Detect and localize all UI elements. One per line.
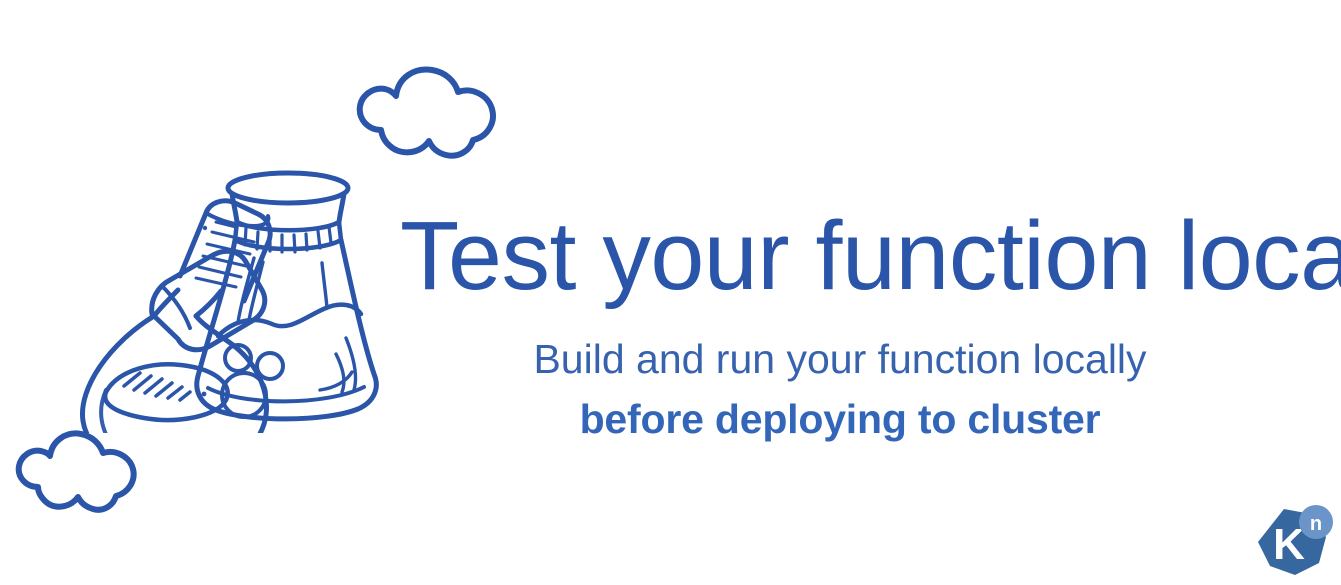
slide-canvas: Test your function locally Build and run… <box>0 0 1341 585</box>
cloud-top <box>352 62 504 162</box>
page-title: Test your function locally <box>400 205 1280 308</box>
cloud-top-icon <box>352 62 504 162</box>
slide-text-block: Test your function locally Build and run… <box>400 205 1280 444</box>
subtitle-line-2: before deploying to cluster <box>400 394 1280 444</box>
flask-cork-stopper <box>152 201 270 350</box>
knative-logo-svg: K n <box>1253 503 1335 583</box>
flasks-svg <box>58 138 388 433</box>
erlenmeyer-flask <box>197 173 376 419</box>
cork-hatching <box>196 222 254 287</box>
cloud-bottom-left-icon <box>12 428 148 516</box>
logo-letter-n: n <box>1310 513 1322 535</box>
subtitle-line-1: Build and run your function locally <box>400 334 1280 384</box>
liquid-hatching <box>124 373 190 400</box>
round-bottom-flask <box>82 290 266 433</box>
knative-logo: K n <box>1253 503 1335 583</box>
cloud-bottom-left <box>12 428 148 516</box>
laboratory-flasks-illustration <box>58 138 388 433</box>
liquid-bubbles <box>222 345 283 417</box>
glass-highlights-right <box>320 338 356 392</box>
neck-band-ticks <box>245 227 331 252</box>
glass-highlights <box>238 258 327 322</box>
